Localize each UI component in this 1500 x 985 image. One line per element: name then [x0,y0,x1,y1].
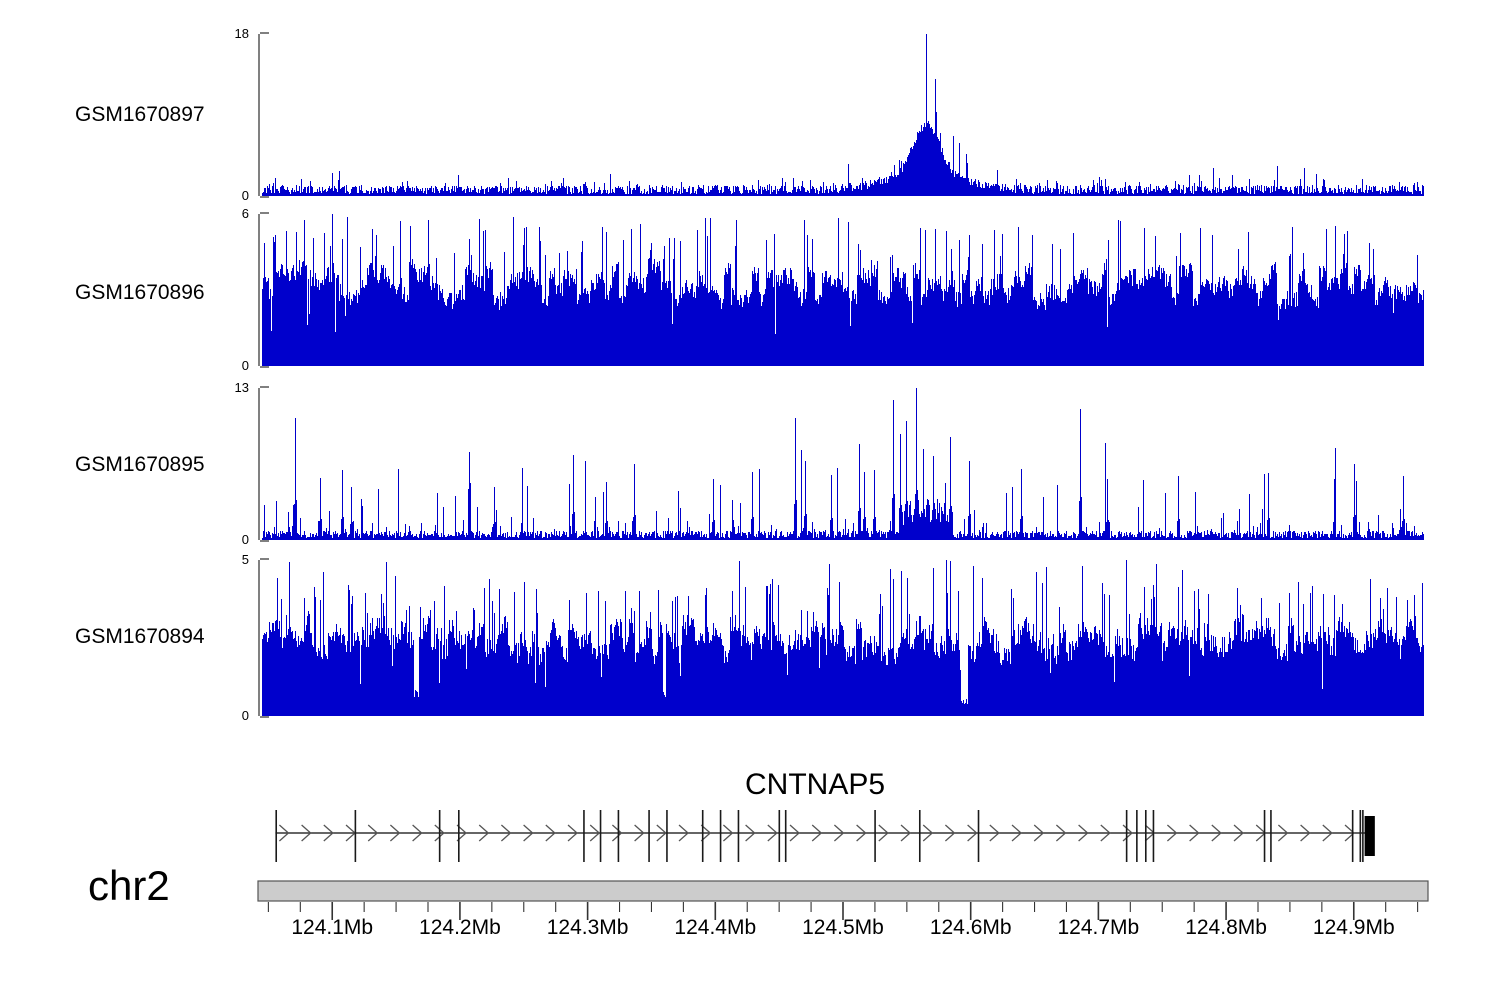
ruler-tick-label: 124.7Mb [1058,916,1140,940]
y-axis-max-GSM1670897: 18 [235,27,249,40]
y-axis-min-GSM1670896: 0 [242,359,249,372]
signal-plot-GSM1670894[interactable] [262,560,1424,716]
signal-plot-GSM1670895[interactable] [262,388,1424,540]
y-axis-min-GSM1670897: 0 [242,189,249,202]
genomic-coordinate-ruler[interactable]: 124.1Mb124.2Mb124.3Mb124.4Mb124.5Mb124.6… [0,878,1500,980]
track-label-GSM1670896: GSM1670896 [75,281,205,305]
signal-plot-GSM1670897[interactable] [262,34,1424,196]
y-axis-bottom-cap [260,716,269,718]
track-label-GSM1670897: GSM1670897 [75,103,205,127]
ruler-tick-label: 124.6Mb [930,916,1012,940]
ruler-tick-label: 124.2Mb [419,916,501,940]
ruler-tick-label: 124.9Mb [1313,916,1395,940]
genome-browser-view: GSM1670897180GSM167089660GSM1670895130GS… [0,0,1500,980]
ruler-tick-label: 124.3Mb [547,916,629,940]
track-label-GSM1670894: GSM1670894 [75,625,205,649]
ruler-tick-label: 124.8Mb [1185,916,1267,940]
y-axis-max-GSM1670894: 5 [242,553,249,566]
gene-label: CNTNAP5 [745,768,885,802]
y-axis-bottom-cap [260,540,269,542]
track-label-GSM1670895: GSM1670895 [75,453,205,477]
y-axis-max-GSM1670895: 13 [235,381,249,394]
y-axis-min-GSM1670895: 0 [242,533,249,546]
ruler-tick-label: 124.4Mb [674,916,756,940]
y-axis-bottom-cap [260,366,269,368]
y-axis-bottom-cap [260,196,269,198]
signal-plot-GSM1670896[interactable] [262,214,1424,366]
y-axis-min-GSM1670894: 0 [242,709,249,722]
ruler-tick-label: 124.5Mb [802,916,884,940]
y-axis-max-GSM1670896: 6 [242,207,249,220]
ruler-tick-label: 124.1Mb [291,916,373,940]
